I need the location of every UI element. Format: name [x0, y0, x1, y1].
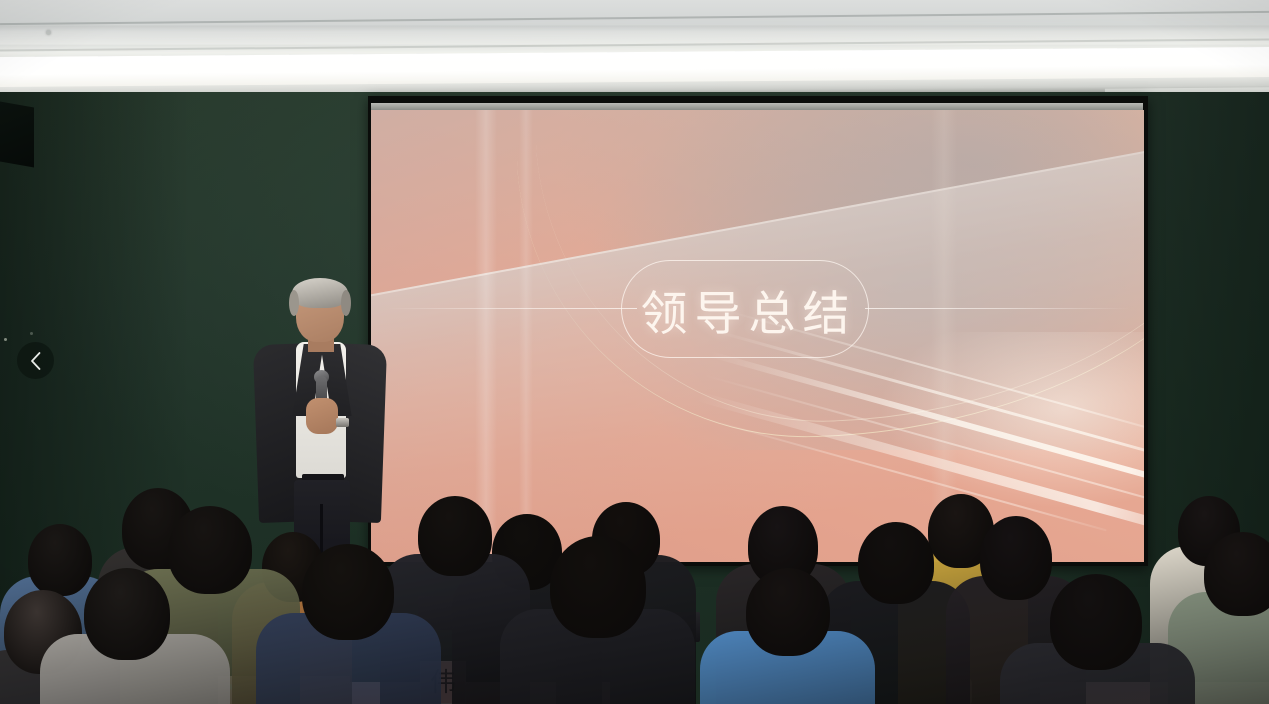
attendee-head — [1204, 532, 1269, 616]
wall-speck — [30, 332, 33, 335]
presenter-hair-side — [289, 290, 299, 316]
projection-screen-top-bar — [371, 103, 1143, 110]
attendee-head — [84, 568, 170, 660]
ceiling-fixture-dot — [46, 30, 51, 35]
chevron-left-icon — [29, 351, 43, 371]
attendee-head — [1050, 574, 1142, 670]
presenter-hands — [306, 398, 338, 434]
previous-image-button[interactable] — [17, 342, 54, 379]
attendee-head — [980, 516, 1052, 600]
presenter-watch — [336, 418, 349, 427]
presenter-hair — [292, 278, 348, 308]
ceiling-seam — [0, 11, 1269, 25]
slide-title-pill: 领导总结 — [621, 260, 869, 358]
wall-speck — [4, 338, 7, 341]
audience — [0, 440, 1269, 704]
attendee-head — [168, 506, 252, 594]
attendee-head — [418, 496, 492, 576]
attendee-head — [550, 536, 646, 638]
wall-mounted-speaker — [0, 100, 34, 167]
image-viewer: 领导总结 伟 — [0, 0, 1269, 704]
attendee-head — [858, 522, 934, 604]
slide-title: 领导总结 — [634, 275, 857, 344]
slide-rule-right — [865, 308, 1130, 309]
presenter-hair-side — [341, 290, 351, 316]
attendee-head — [28, 524, 92, 596]
attendee-head — [302, 544, 394, 640]
slide-rule-left — [387, 308, 637, 309]
attendee-head — [746, 568, 830, 656]
